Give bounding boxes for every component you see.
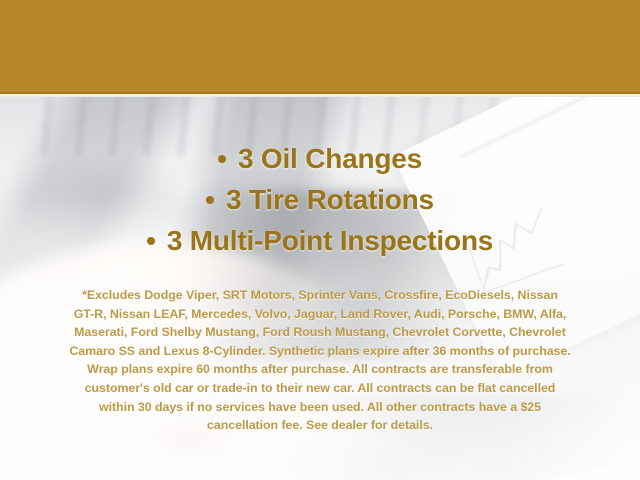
extracare-package-ad: ExtraCare Package* 3 Oil Changes 3 Tire …: [0, 0, 640, 480]
disclaimer-text: *Excludes Dodge Viper, SRT Motors, Sprin…: [34, 286, 606, 435]
benefits-list: 3 Oil Changes 3 Tire Rotations 3 Multi-P…: [0, 138, 640, 261]
benefit-label: 3 Tire Rotations: [226, 184, 434, 215]
disclaimer-line: GT-R, Nissan LEAF, Mercedes, Volvo, Jagu…: [34, 305, 606, 324]
disclaimer-line: cancellation fee. See dealer for details…: [34, 416, 606, 435]
disclaimer-line: *Excludes Dodge Viper, SRT Motors, Sprin…: [34, 286, 606, 305]
bullet-dot-icon: [206, 196, 214, 204]
header-band: [0, 0, 640, 94]
benefit-label: 3 Multi-Point Inspections: [167, 225, 493, 256]
header-band-seam: [0, 94, 640, 97]
benefit-item-multi-point-inspections: 3 Multi-Point Inspections: [0, 220, 640, 261]
bullet-dot-icon: [218, 155, 226, 163]
disclaimer-line: customer's old car or trade-in to their …: [34, 379, 606, 398]
bullet-dot-icon: [147, 237, 155, 245]
disclaimer-line: Wrap plans expire 60 months after purcha…: [34, 360, 606, 379]
disclaimer-line: Maserati, Ford Shelby Mustang, Ford Rous…: [34, 323, 606, 342]
benefit-label: 3 Oil Changes: [238, 143, 422, 174]
benefit-item-tire-rotations: 3 Tire Rotations: [0, 179, 640, 220]
benefit-item-oil-changes: 3 Oil Changes: [0, 138, 640, 179]
disclaimer-line: Camaro SS and Lexus 8-Cylinder. Syntheti…: [34, 342, 606, 361]
disclaimer-line: within 30 days if no services have been …: [34, 398, 606, 417]
